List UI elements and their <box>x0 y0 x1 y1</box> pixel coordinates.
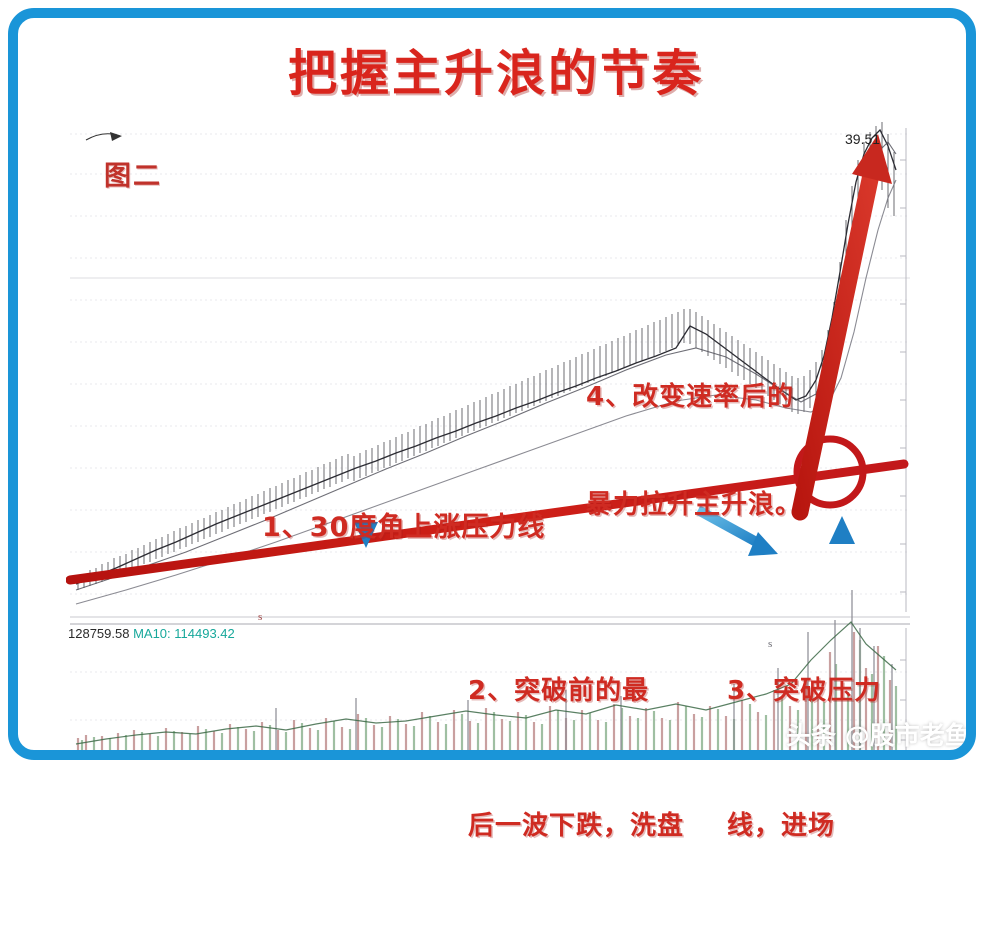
annotation-2: 2、突破前的最 后一波下跌，洗盘 <box>468 579 684 939</box>
figure-label: 图二 <box>104 154 162 193</box>
page-title: 把握主升浪的节奏 <box>0 34 992 105</box>
annotation-2-line2: 后一波下跌，洗盘 <box>468 804 684 849</box>
volume-indicator-readout: 128759.58 MA10: 114493.42 <box>68 626 235 641</box>
annotation-4-line1: 4、改变速率后的 <box>586 379 802 415</box>
watermark: 头条 @股市老鱼 <box>786 716 970 752</box>
annotation-3-line1: 3、突破压力 <box>727 669 881 714</box>
volume-value: 128759.58 <box>68 626 129 641</box>
peak-price-label: 39.51 <box>845 131 880 147</box>
annotation-3-line2: 线，进场 <box>727 804 881 849</box>
annotation-3: 3、突破压力 线，进场 <box>727 579 881 939</box>
screenshot-root: 把握主升浪的节奏 图二 39.51 128759.58 MA10: 114493… <box>0 0 992 776</box>
axis-marker-left: s <box>258 611 262 623</box>
annotation-1-line1: 1、30度角上涨压力线 <box>262 505 545 544</box>
annotation-2-line1: 2、突破前的最 <box>468 669 684 714</box>
annotation-4-line2: 暴力拉升主升浪。 <box>586 487 802 523</box>
volume-ma10-value: MA10: 114493.42 <box>133 626 235 641</box>
annotation-4: 4、改变速率后的 暴力拉升主升浪。 <box>586 307 802 595</box>
